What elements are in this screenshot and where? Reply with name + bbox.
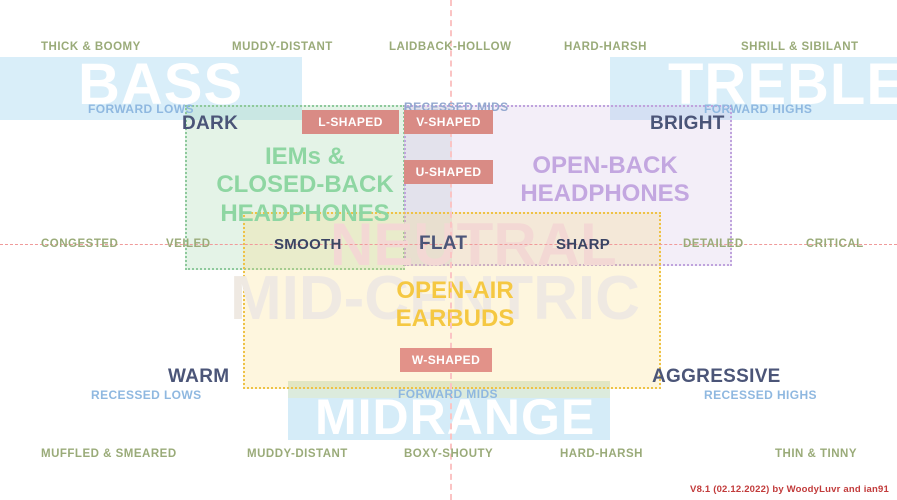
badge-u-shaped[interactable]: U-SHAPED — [404, 160, 493, 184]
corner-label-bottom-mid-left: MUDDY-DISTANT — [247, 448, 348, 460]
corner-label-bottom-right: THIN & TINNY — [775, 448, 857, 460]
pole-label-sharp: SHARP — [556, 236, 610, 253]
pole-label-dark: DARK — [182, 113, 238, 135]
footer-version-credit: V8.1 (02.12.2022) by WoodyLuvr and ian91 — [690, 484, 889, 495]
corner-label-bottom-mid: BOXY-SHOUTY — [404, 448, 493, 460]
badge-w-shaped[interactable]: W-SHAPED — [400, 348, 492, 372]
pole-label-smooth: SMOOTH — [274, 236, 342, 253]
pole-label-bright: BRIGHT — [650, 113, 725, 135]
badge-v-shaped[interactable]: V-SHAPED — [404, 110, 493, 134]
box-label-open-air-earbuds: OPEN-AIR EARBUDS — [330, 277, 580, 334]
corner-label-top-mid-right: HARD-HARSH — [564, 41, 647, 53]
sublabel-forward-lows: FORWARD LOWS — [88, 102, 194, 116]
pole-label-congested: CONGESTED — [41, 238, 118, 250]
box-label-iems-closed-back: IEMs & CLOSED-BACK HEADPHONES — [210, 143, 400, 228]
corner-label-bottom-mid-right: HARD-HARSH — [560, 448, 643, 460]
corner-label-top-right: SHRILL & SIBILANT — [741, 41, 859, 53]
pole-label-aggressive: AGGRESSIVE — [652, 366, 781, 388]
sublabel-forward-mids: FORWARD MIDS — [398, 387, 498, 401]
box-label-open-back: OPEN-BACK HEADPHONES — [480, 152, 730, 209]
pole-label-warm: WARM — [168, 366, 229, 388]
sound-signature-chart: BASS TREBLE MIDRANGE MID-CENTRIC NEUTRAL… — [0, 0, 897, 500]
pole-label-detailed: DETAILED — [683, 238, 744, 250]
corner-label-bottom-left: MUFFLED & SMEARED — [41, 448, 177, 460]
corner-label-top-mid-left: MUDDY-DISTANT — [232, 41, 333, 53]
pole-label-flat: FLAT — [419, 233, 467, 255]
corner-label-top-mid: LAIDBACK-HOLLOW — [389, 41, 511, 53]
pole-label-critical: CRITICAL — [806, 238, 864, 250]
badge-l-shaped[interactable]: L-SHAPED — [302, 110, 399, 134]
corner-label-top-left: THICK & BOOMY — [41, 41, 141, 53]
sublabel-recessed-lows: RECESSED LOWS — [91, 388, 202, 402]
pole-label-veiled: VEILED — [166, 238, 211, 250]
sublabel-recessed-highs: RECESSED HIGHS — [704, 388, 817, 402]
